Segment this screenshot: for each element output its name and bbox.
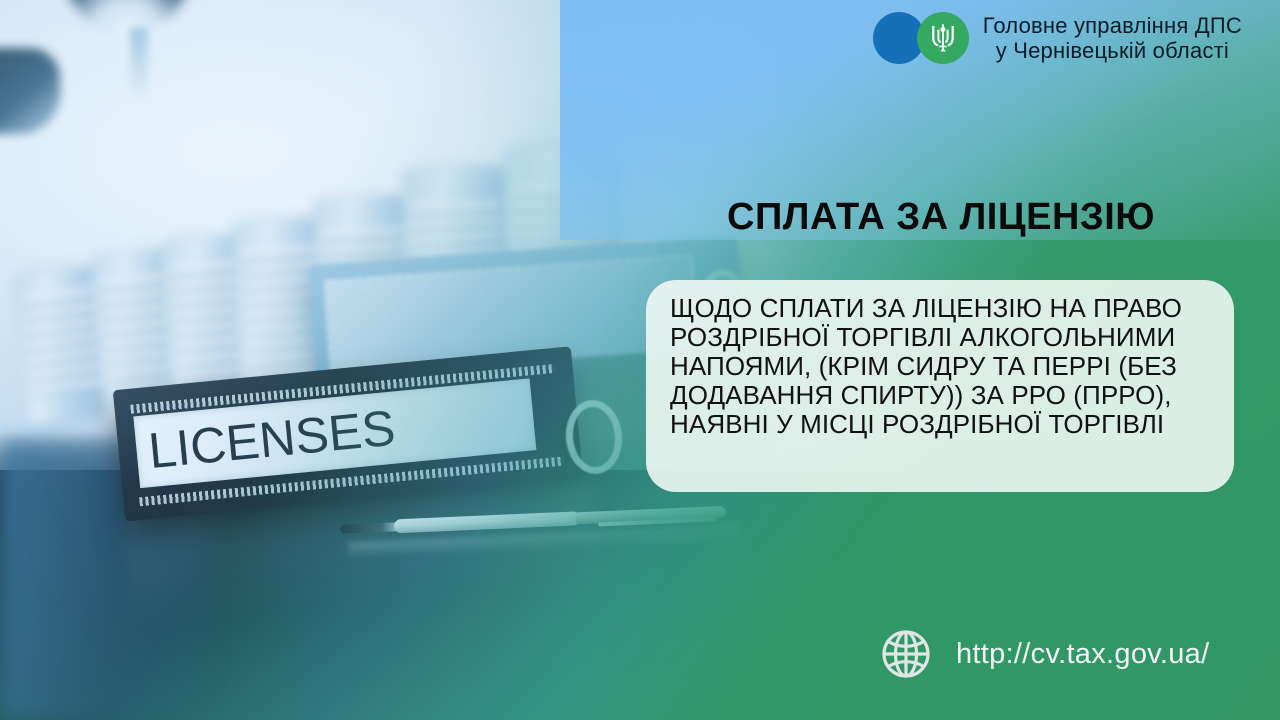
- ukraine-trident-icon: [930, 23, 956, 53]
- announcement-text: ЩОДО СПЛАТИ ЗА ЛІЦЕНЗІЮ НА ПРАВО РОЗДРІБ…: [670, 294, 1212, 439]
- footer-website[interactable]: http://cv.tax.gov.ua/: [878, 626, 1209, 682]
- green-circle-icon: [917, 12, 969, 64]
- organization-name: Головне управління ДПС у Чернівецькій об…: [983, 13, 1242, 63]
- header-logo-block: Головне управління ДПС у Чернівецькій об…: [873, 12, 1242, 64]
- globe-icon: [878, 626, 934, 682]
- logo-circles: [873, 12, 969, 64]
- website-url[interactable]: http://cv.tax.gov.ua/: [956, 638, 1209, 671]
- page-title: СПЛАТА ЗА ЛІЦЕНЗІЮ: [646, 196, 1236, 239]
- announcement-card: ЩОДО СПЛАТИ ЗА ЛІЦЕНЗІЮ НА ПРАВО РОЗДРІБ…: [646, 280, 1234, 492]
- banner-canvas: LICENSES: [0, 0, 1280, 720]
